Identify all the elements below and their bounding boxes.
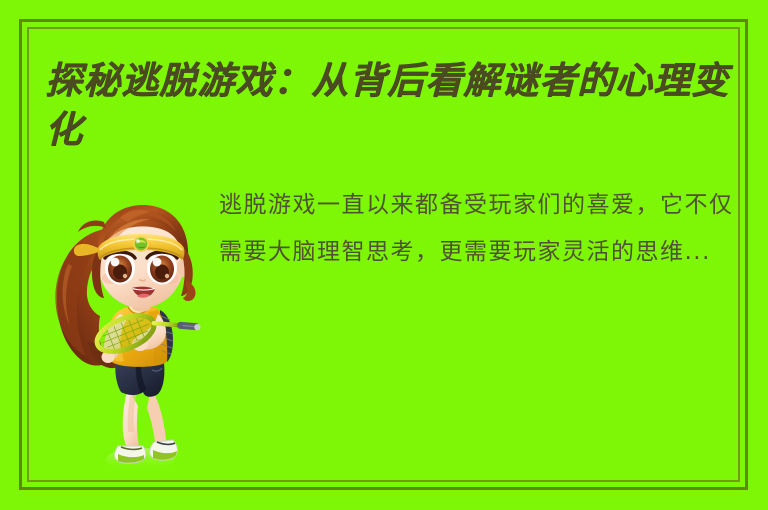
body-paragraph: 逃脱游戏一直以来都备受玩家们的喜爱，它不仅需要大脑理智思考，更需要玩家灵活的思维… <box>219 182 735 276</box>
eye-right <box>147 252 177 285</box>
eye-left <box>105 252 135 285</box>
chibi-badminton-girl-illustration <box>48 192 228 475</box>
promo-card: 探秘逃脱游戏：从背后看解谜者的心理变化 逃脱游戏一直以来都备受玩家们的喜爱，它不… <box>0 0 768 510</box>
headband-gem <box>133 236 149 252</box>
page-title: 探秘逃脱游戏：从背后看解谜者的心理变化 <box>45 56 735 154</box>
